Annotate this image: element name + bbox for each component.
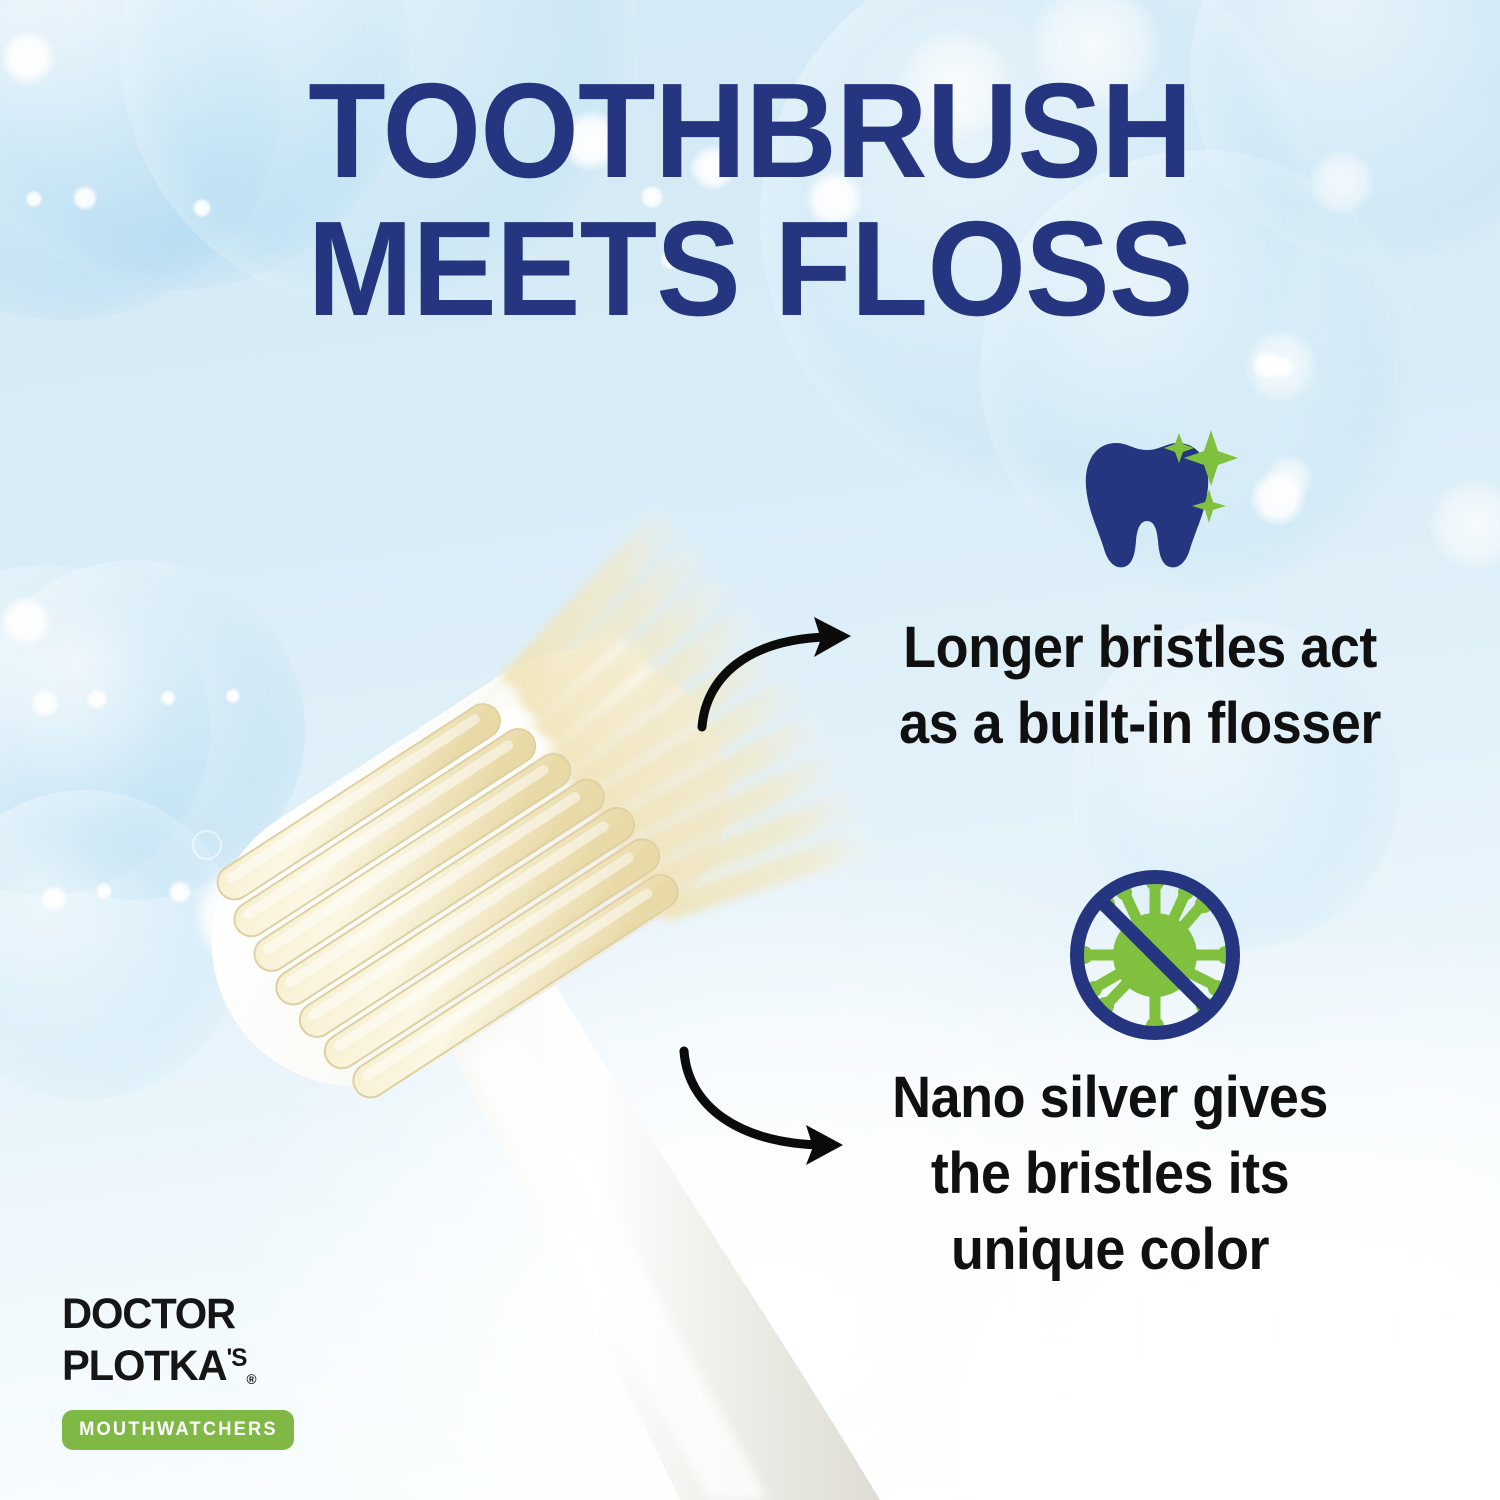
logo-plotka-text: PLOTKA xyxy=(62,1342,226,1390)
headline-line-1: TOOTHBRUSH xyxy=(45,62,1455,200)
feature-2-line-2: the bristles its xyxy=(812,1136,1407,1212)
feature-1-line-1: Longer bristles act xyxy=(842,610,1437,686)
product-marketing-image: TOOTHBRUSH MEETS FLOSS xyxy=(0,0,1500,1500)
feature-2-text: Nano silver gives the bristles its uniqu… xyxy=(812,1060,1407,1288)
background-bokeh-dot xyxy=(1270,355,1294,379)
headline-line-2: MEETS FLOSS xyxy=(45,200,1455,338)
brand-logo: DOCTOR PLOTKA'S® MOUTHWATCHERS xyxy=(62,1292,312,1450)
feature-longer-bristles: Longer bristles act as a built-in flosse… xyxy=(820,610,1460,762)
feature-1-line-2: as a built-in flosser xyxy=(842,686,1437,762)
registered-trademark-icon: ® xyxy=(246,1371,256,1387)
logo-mouthwatchers-pill: MOUTHWATCHERS xyxy=(62,1410,294,1450)
background-bokeh-dot xyxy=(0,595,52,647)
no-germs-icon xyxy=(1062,862,1248,1048)
background-bokeh-dot xyxy=(95,882,113,900)
background-bokeh-dot xyxy=(25,190,43,208)
feature-1-text: Longer bristles act as a built-in flosse… xyxy=(842,610,1437,762)
logo-line-doctor: DOCTOR xyxy=(62,1292,305,1336)
tooth-sparkle-icon xyxy=(1078,425,1238,575)
tooth-shape xyxy=(1086,443,1208,567)
feature-2-line-3: unique color xyxy=(812,1212,1407,1288)
headline: TOOTHBRUSH MEETS FLOSS xyxy=(45,62,1455,338)
feature-nano-silver: Nano silver gives the bristles its uniqu… xyxy=(790,1060,1430,1288)
logo-line-plotkas: PLOTKA'S® xyxy=(62,1336,305,1401)
background-bokeh-dot xyxy=(30,688,60,718)
feature-2-line-1: Nano silver gives xyxy=(812,1060,1407,1136)
logo-pill-label: MOUTHWATCHERS xyxy=(79,1419,278,1441)
logo-apostrophe-s: 'S xyxy=(226,1344,246,1372)
background-bokeh-dot xyxy=(1265,455,1313,503)
background-bokeh-dot xyxy=(40,885,68,913)
background-bokeh-dot xyxy=(86,688,108,710)
